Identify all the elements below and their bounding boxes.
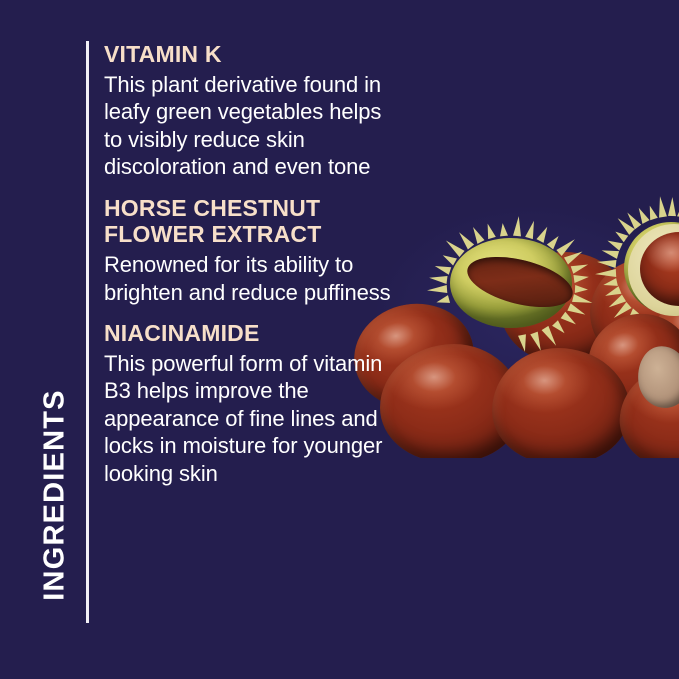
ingredients-list: VITAMIN K This plant derivative found in…	[104, 41, 404, 487]
husk-spike	[518, 335, 529, 353]
ingredient-name-niacinamide: NIACINAMIDE	[104, 320, 404, 347]
ingredients-infographic: INGREDIENTS VITAMIN K This plant derivat…	[0, 0, 679, 679]
ingredient-name-horse-chestnut-flower-extract: HORSE CHESTNUT FLOWER EXTRACT	[104, 195, 404, 248]
husk-spike	[575, 285, 588, 294]
ingredient-description-niacinamide: This powerful form of vitamin B3 helps i…	[104, 350, 404, 488]
ingredient-description-vitamin-k: This plant derivative found in leafy gre…	[104, 71, 404, 181]
ingredient-item-horse-chestnut-flower-extract: HORSE CHESTNUT FLOWER EXTRACT Renowned f…	[104, 195, 404, 306]
ingredient-name-vitamin-k: VITAMIN K	[104, 41, 404, 68]
husk-spike	[436, 295, 451, 306]
husk-spike	[427, 285, 448, 294]
ingredient-item-vitamin-k: VITAMIN K This plant derivative found in…	[104, 41, 404, 181]
husk-spike	[484, 223, 496, 240]
ingredient-item-niacinamide: NIACINAMIDE This powerful form of vitami…	[104, 320, 404, 487]
chestnut-husk-split-left	[436, 224, 586, 340]
vertical-divider-rule	[86, 41, 89, 623]
husk-spike	[434, 262, 452, 275]
husk-spikes-left	[436, 224, 586, 340]
husk-spike	[595, 269, 616, 278]
section-label-ingredients: INGREDIENTS	[39, 389, 72, 600]
husk-spike	[552, 320, 567, 336]
husk-spike	[513, 216, 523, 237]
husk-spike	[499, 223, 508, 237]
husk-spikes-right	[610, 208, 679, 326]
chestnut-husk-open-right	[610, 208, 679, 326]
husk-spike	[668, 197, 676, 216]
ingredient-description-horse-chestnut-flower-extract: Renowned for its ability to brighten and…	[104, 251, 404, 306]
